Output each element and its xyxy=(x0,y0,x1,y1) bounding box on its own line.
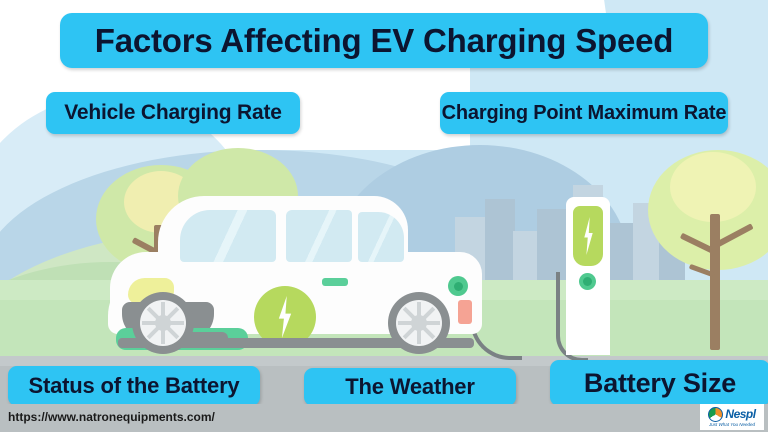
rear-wheel xyxy=(388,292,450,354)
badge-charging-point-maximum-rate[interactable]: Charging Point Maximum Rate xyxy=(440,92,728,134)
nespl-logo[interactable]: Nespl Just What You Needed xyxy=(700,404,764,430)
door-handle xyxy=(322,278,348,286)
logo-tagline: Just What You Needed xyxy=(709,423,755,428)
infographic-canvas: Factors Affecting EV Charging Speed Vehi… xyxy=(0,0,768,432)
front-wheel xyxy=(132,292,194,354)
tree-right xyxy=(648,150,768,350)
logo-wheel-icon xyxy=(708,407,723,422)
website-url[interactable]: https://www.natronequipments.com/ xyxy=(8,410,215,424)
logo-name: Nespl xyxy=(725,408,755,420)
ev-charging-station xyxy=(566,197,610,357)
page-title: Factors Affecting EV Charging Speed xyxy=(60,13,708,68)
badge-battery-size[interactable]: Battery Size xyxy=(550,360,768,406)
taillight xyxy=(458,300,472,324)
electric-car xyxy=(110,196,510,358)
badge-status-of-the-battery[interactable]: Status of the Battery xyxy=(8,366,260,406)
badge-the-weather[interactable]: The Weather xyxy=(304,368,516,406)
badge-vehicle-charging-rate[interactable]: Vehicle Charging Rate xyxy=(46,92,300,134)
